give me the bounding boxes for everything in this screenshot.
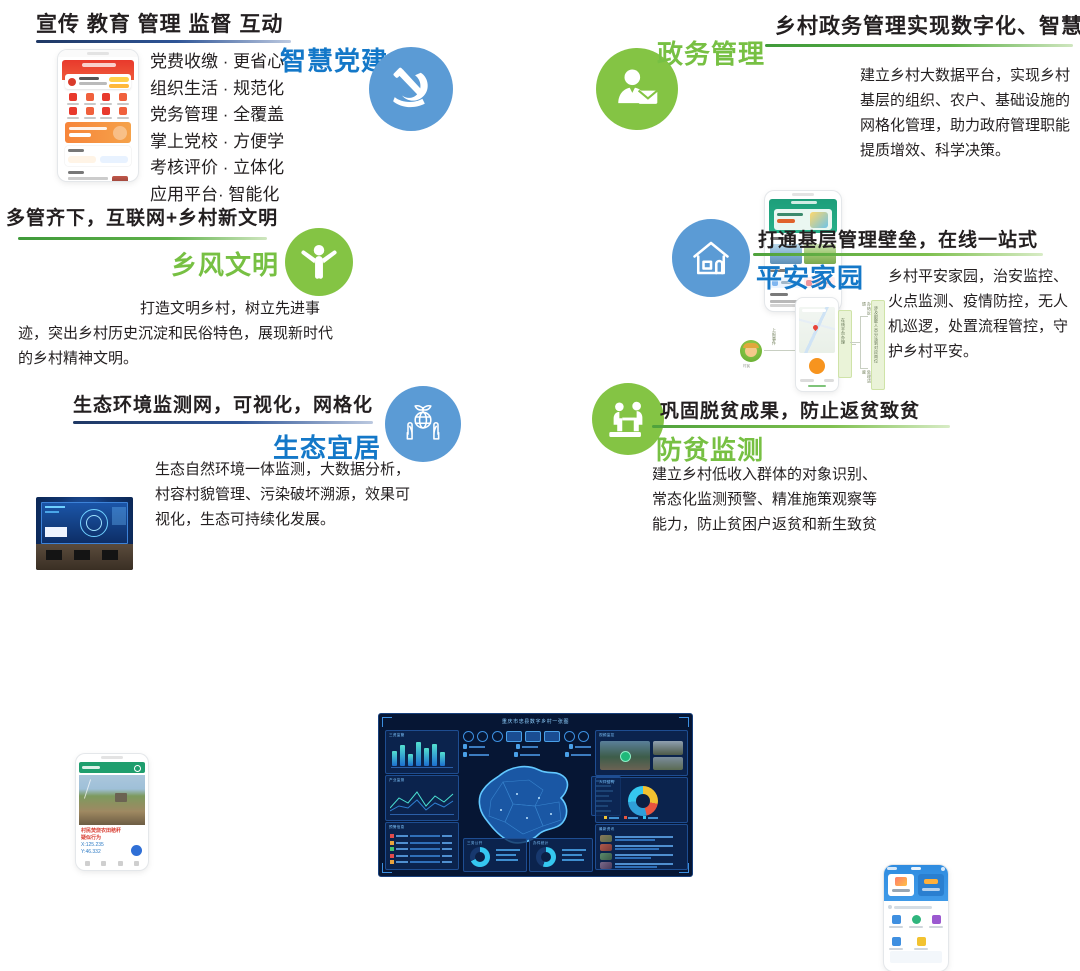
stat-item <box>565 752 591 757</box>
helping-hands-icon <box>592 383 664 455</box>
party-app-name <box>79 77 99 80</box>
person-arms-up-icon <box>285 228 353 296</box>
phone-notch <box>87 52 109 55</box>
safe-home-flow-diagram: 村民 上报事件 在线平台办理 办结反馈 处理进度 涉及职能人员分派到对应岗位 <box>726 292 884 392</box>
party-app-section-dynamic <box>65 146 131 166</box>
kpi-chip[interactable] <box>506 731 522 742</box>
dashboard-gauge-right: 办件统计 <box>529 838 593 872</box>
rural-culture-title: 乡风文明 <box>171 245 279 282</box>
table-row <box>390 847 454 851</box>
kpi-chip[interactable] <box>578 731 589 742</box>
poverty-monitor-headline: 巩固脱贫成果，防止返贫致贫 <box>660 396 920 423</box>
table-row <box>390 854 454 858</box>
donut-legend <box>604 816 658 819</box>
house-icon <box>672 219 750 297</box>
kpi-chip[interactable] <box>477 731 488 742</box>
video-feed[interactable] <box>600 741 650 770</box>
party-app-icon[interactable] <box>67 93 79 105</box>
poverty-monitor-paragraph: 建立乡村低收入群体的对象识别、常态化监测预警、精准施策观察等能力，防止贫困户返贫… <box>652 462 887 537</box>
tab-icon[interactable] <box>101 861 106 866</box>
safe-home-headline: 打通基层管理壁垒，在线一站式 <box>758 225 1038 252</box>
phone-notch <box>792 193 814 196</box>
gov-admin-paragraph: 建立乡村大数据平台，实现乡村基层的组织、农户、基础设施的网格化管理，助力政府管理… <box>860 63 1076 163</box>
poverty-app-icon[interactable] <box>889 915 903 928</box>
dashboard-bar-panel: 三资监管 <box>385 730 459 774</box>
news-item[interactable] <box>600 844 683 851</box>
eco-alert-panel: 村民焚烧农田秸秆 疑似行为 X:125.235 Y:46.332 <box>79 826 145 859</box>
stat-item <box>514 752 540 757</box>
stat-item <box>463 744 485 749</box>
donut-panel-title: 人口结构 <box>596 778 687 785</box>
poverty-app-icon[interactable] <box>889 937 903 950</box>
stat-item <box>463 752 489 757</box>
poverty-app-icon-row-2 <box>889 937 943 950</box>
map-search-bar[interactable] <box>802 309 826 312</box>
party-app-icon[interactable] <box>84 93 96 105</box>
flow-node-result-label: 涉及职能人员分派到对应岗位 <box>874 306 879 382</box>
flow-connector <box>764 350 796 351</box>
eco-locate-button[interactable] <box>131 845 142 856</box>
party-app-avatar <box>68 78 76 86</box>
party-app-mockup <box>58 50 138 181</box>
party-emblem-icon <box>369 47 453 131</box>
gauge-right-title: 办件统计 <box>530 839 592 846</box>
safe-home-title: 平安家园 <box>756 258 864 295</box>
eco-coord-y: Y:46.332 <box>81 849 101 855</box>
hands-globe-sprout-icon <box>385 386 461 462</box>
party-app-icon-row-1 <box>67 93 129 105</box>
rural-culture-paragraph: 打造文明乡村，树立先进事迹，突出乡村历史沉淀和民俗特色，展现新时代的乡村精神文明… <box>18 296 340 371</box>
phone-notch <box>101 756 123 759</box>
poverty-app-mockup <box>884 865 948 971</box>
video-panel-title: 视频监控 <box>596 731 687 738</box>
eco-alert-line-2: 疑似行为 <box>81 834 101 841</box>
smart-party-rule <box>36 40 291 43</box>
party-app-subtitle <box>79 82 107 85</box>
poverty-app-notice-bar <box>888 905 944 909</box>
bullet-item: 组织生活 · 规范化 <box>150 76 284 103</box>
infographic-canvas: 宣传 教育 管理 监督 互动 智慧党建 <box>0 0 1080 554</box>
kpi-chip[interactable] <box>525 731 541 742</box>
dashboard-title: 重庆市忠县数字乡村一张图 <box>379 718 692 725</box>
stat-item <box>516 744 538 749</box>
control-room-photo <box>36 497 133 570</box>
dashboard-video-panel: 视频监控 <box>595 730 688 776</box>
line-chart <box>390 786 454 814</box>
flow-actor-label: 村民 <box>743 364 750 369</box>
stat-item <box>569 744 591 749</box>
news-panel-title: 最新资讯 <box>596 825 687 832</box>
gauge-left-legend <box>496 849 520 861</box>
eco-living-paragraph: 生态自然环境一体监测，大数据分析，村容村貌管理、污染破坏溯源，效果可视化，生态可… <box>155 457 417 532</box>
dashboard-news-panel: 最新资讯 <box>595 824 688 870</box>
report-button[interactable] <box>809 358 825 374</box>
news-list <box>600 835 683 869</box>
gov-admin-headline: 乡村政务管理实现数字化、智慧化 <box>775 10 1080 40</box>
bullet-item: 考核评价 · 立体化 <box>150 155 284 182</box>
gauge-left-title: 三务公开 <box>464 839 526 846</box>
dashboard-kpi-chips <box>463 731 589 742</box>
tab-icon[interactable] <box>85 861 90 866</box>
poverty-app-icon[interactable] <box>929 915 943 928</box>
gauge-ring <box>470 847 490 867</box>
news-item[interactable] <box>600 835 683 842</box>
eco-app-tabbar <box>79 861 145 866</box>
eco-coord-x: X:125.235 <box>81 842 104 848</box>
party-app-icon-row-2 <box>67 107 129 119</box>
party-app-member-card <box>65 74 131 89</box>
rural-culture-headline: 多管齐下，互联网+乡村新文明 <box>6 203 278 230</box>
poverty-app-card-1[interactable] <box>888 874 914 896</box>
dashboard-gauge-left: 三务公开 <box>463 838 527 872</box>
party-app-icon[interactable] <box>117 93 129 105</box>
map-pin-icon <box>812 324 819 331</box>
eco-app-header <box>79 762 145 773</box>
news-item[interactable] <box>600 853 683 860</box>
kpi-chip[interactable] <box>463 731 474 742</box>
gov-admin-rule <box>765 44 1073 47</box>
poverty-app-icon-row-1 <box>889 915 943 928</box>
poverty-app-header <box>884 865 948 901</box>
table-row <box>390 860 454 864</box>
smart-party-headline: 宣传 教育 管理 监督 互动 <box>36 8 283 38</box>
party-app-section-study <box>65 169 131 181</box>
poverty-app-icon[interactable] <box>909 915 923 928</box>
party-app-icon[interactable] <box>100 107 112 119</box>
dashboard-donut-panel: 人口结构 <box>595 777 688 823</box>
digital-village-dashboard: 重庆市忠县数字乡村一张图 三资监管 产业监测 <box>378 713 693 877</box>
poverty-app-card-2[interactable] <box>918 874 944 896</box>
kpi-chip[interactable] <box>492 731 503 742</box>
bar-panel-title: 三资监管 <box>386 731 458 738</box>
eco-living-headline: 生态环境监测网，可视化，网格化 <box>73 390 373 417</box>
section-smart-party: 宣传 教育 管理 监督 互动 <box>36 8 283 38</box>
poverty-app-icon[interactable] <box>914 937 928 950</box>
bullet-item: 掌上党校 · 方便学 <box>150 129 284 156</box>
party-app-icon[interactable] <box>100 93 112 105</box>
party-app-icon[interactable] <box>117 107 129 119</box>
flow-step-1-label: 上报事件 <box>772 328 777 350</box>
safe-home-rule <box>753 253 1043 256</box>
table-panel-title: 预警信息 <box>386 823 458 830</box>
line-panel-title: 产业监测 <box>386 776 458 783</box>
dashboard-line-panel: 产业监测 <box>385 775 459 821</box>
news-item[interactable] <box>600 862 683 869</box>
video-feed[interactable] <box>653 757 683 770</box>
tab-icon[interactable] <box>134 861 139 866</box>
eco-alert-line-1: 村民焚烧农田秸秆 <box>81 827 121 834</box>
poverty-app-footer <box>890 951 942 963</box>
eco-app-mockup: 村民焚烧农田秸秆 疑似行为 X:125.235 Y:46.332 <box>76 754 148 870</box>
gauge-ring <box>536 847 556 867</box>
party-app-header-title <box>82 63 116 67</box>
bullet-item: 党费收缴 · 更省心 <box>150 49 284 76</box>
villager-avatar-icon <box>740 340 762 362</box>
flow-node-platform-label: 在线平台办理 <box>841 318 846 368</box>
tab-icon[interactable] <box>118 861 123 866</box>
eco-living-rule <box>73 421 373 424</box>
kpi-chip[interactable] <box>564 731 575 742</box>
dashboard-table-panel: 预警信息 <box>385 822 459 870</box>
dashboard-stat-row <box>463 744 591 749</box>
party-app-icon[interactable] <box>84 107 96 119</box>
gauge-right-legend <box>562 849 586 861</box>
gov-admin-title: 政务管理 <box>657 34 765 71</box>
safe-home-paragraph: 乡村平安家园，治安监控、火点监测、疫情防控，无人机巡逻，处置流程管控，守护乡村平… <box>888 264 1078 364</box>
party-app-icon[interactable] <box>67 107 79 119</box>
rural-culture-rule <box>18 237 267 240</box>
dashboard-stat-row-2 <box>463 752 591 757</box>
party-app-pay-button-2[interactable] <box>109 84 129 88</box>
party-app-pay-button[interactable] <box>109 77 129 82</box>
video-feed[interactable] <box>653 741 683 755</box>
safe-home-phone-mockup <box>796 298 838 391</box>
poverty-monitor-rule <box>652 425 950 428</box>
table-row <box>390 841 454 845</box>
smart-party-bullets: 党费收缴 · 更省心 组织生活 · 规范化 党务管理 · 全覆盖 掌上党校 · … <box>150 49 284 208</box>
kpi-chip[interactable] <box>544 731 560 742</box>
party-app-banner[interactable] <box>65 122 131 143</box>
map-view[interactable] <box>799 307 835 353</box>
bar-chart <box>392 740 445 766</box>
bullet-item: 党务管理 · 全覆盖 <box>150 102 284 129</box>
population-donut <box>628 786 658 816</box>
table-row <box>390 834 454 838</box>
eco-field-photo <box>79 775 145 825</box>
